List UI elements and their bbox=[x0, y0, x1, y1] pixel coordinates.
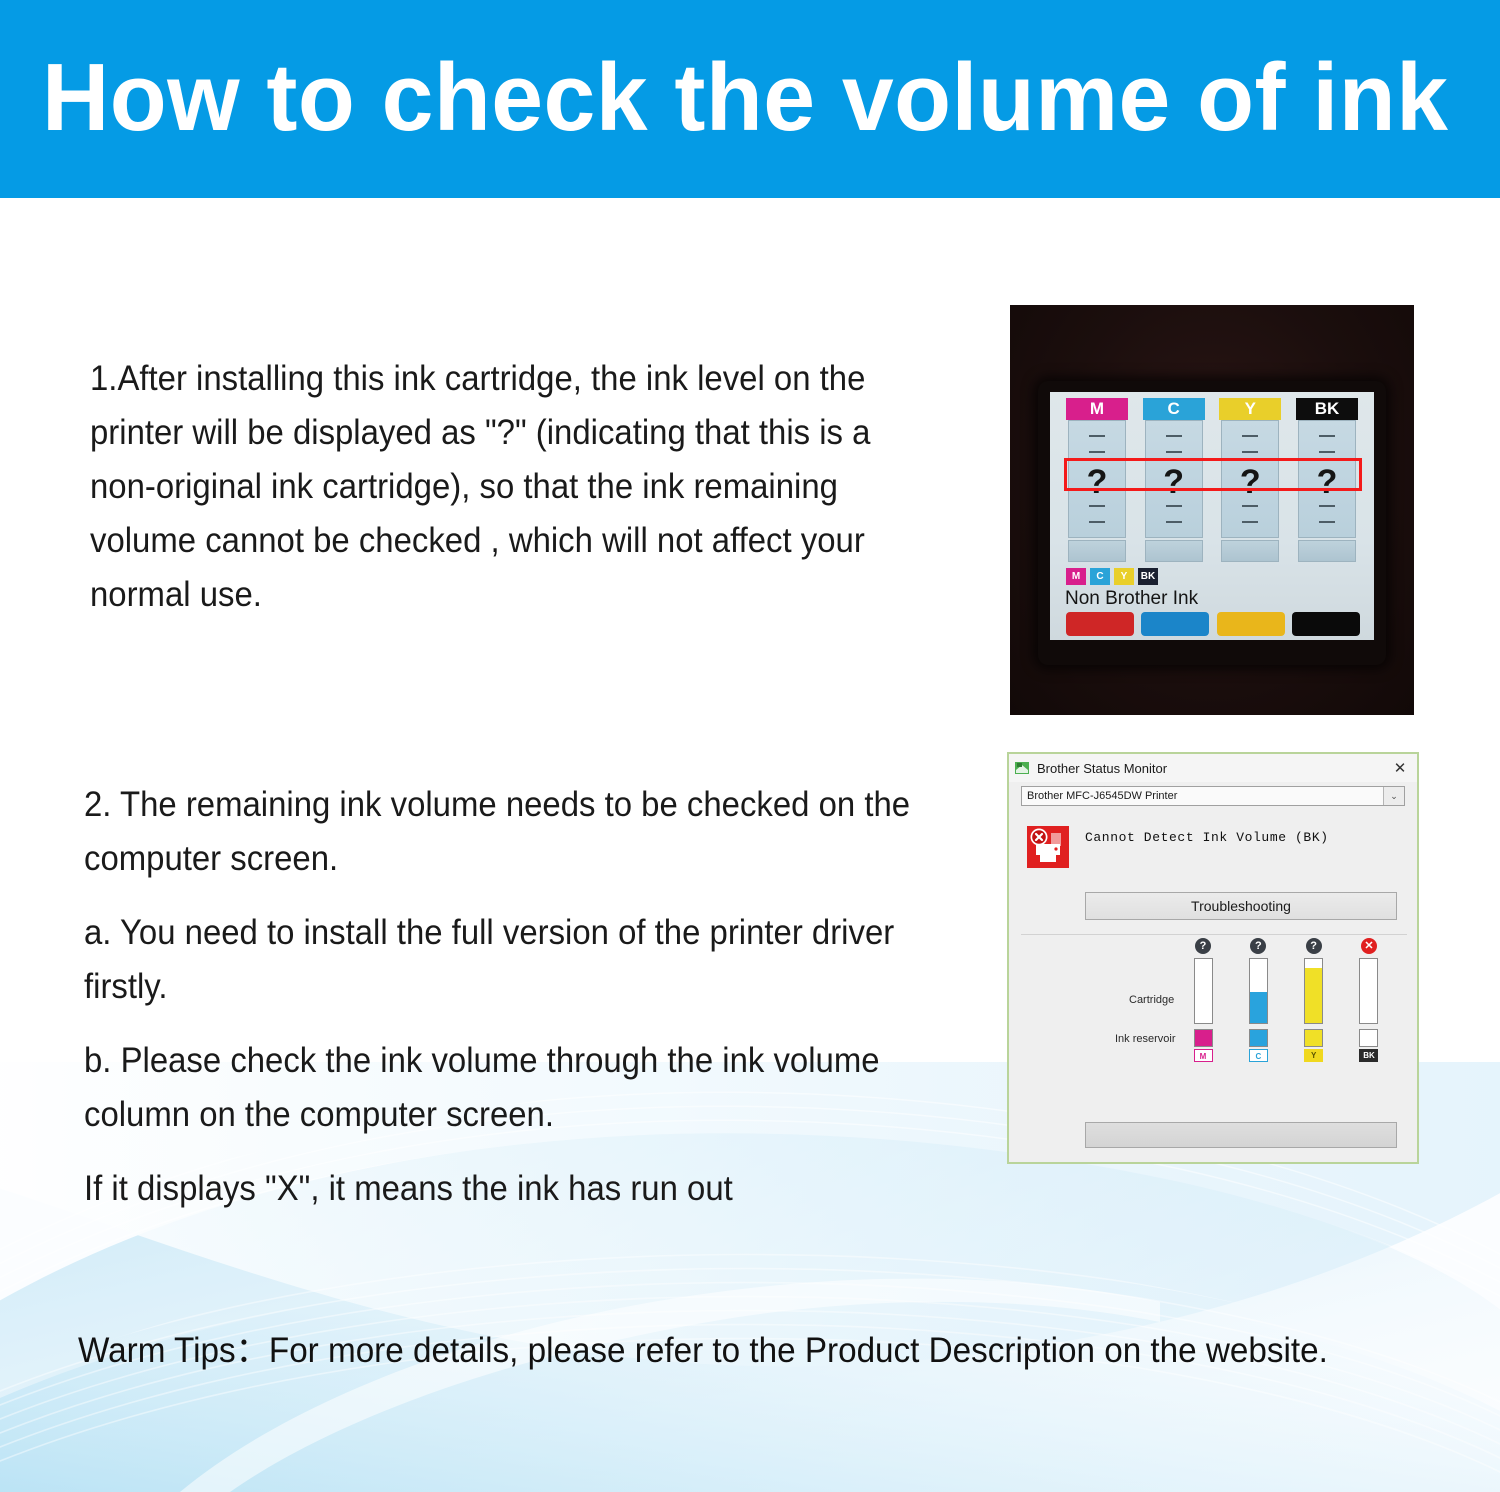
warm-tips-text: Warm Tips：For more details, please refer… bbox=[78, 1328, 1328, 1374]
cartridge-fill-c bbox=[1250, 992, 1267, 1023]
status-icon-m: ? bbox=[1195, 938, 1211, 954]
ink-column-header-m: M bbox=[1066, 398, 1128, 420]
ink-gauge-c[interactable]: ? C bbox=[1246, 938, 1270, 1083]
lcd-blue-button[interactable] bbox=[1141, 612, 1209, 636]
lcd-yellow-button[interactable] bbox=[1217, 612, 1285, 636]
gauge-tag-y: Y bbox=[1304, 1049, 1323, 1062]
cartridge-tube-y bbox=[1304, 958, 1323, 1024]
ink-column-foot-m bbox=[1068, 540, 1126, 562]
non-brother-ink-label: Non Brother Ink bbox=[1065, 588, 1198, 610]
ink-level-panel: Cartridge Ink reservoir ? M ? bbox=[1009, 934, 1417, 1086]
bottom-action-button[interactable] bbox=[1085, 1122, 1397, 1148]
window-body: Brother MFC-J6545DW Printer ⌄ Cannot Det… bbox=[1009, 782, 1417, 1162]
status-icon-y: ? bbox=[1306, 938, 1322, 954]
step-1-text: 1.After installing this ink cartridge, t… bbox=[90, 352, 936, 622]
reservoir-fill-c bbox=[1250, 1030, 1267, 1046]
gauge-tag-m: M bbox=[1194, 1049, 1213, 1062]
header-banner: How to check the volume of ink bbox=[0, 0, 1500, 198]
error-message-text: Cannot Detect Ink Volume (BK) bbox=[1085, 830, 1329, 845]
cartridge-fill-y bbox=[1305, 968, 1322, 1023]
window-title-text: Brother Status Monitor bbox=[1037, 761, 1389, 776]
printer-error-icon bbox=[1025, 824, 1071, 870]
lcd-button-row bbox=[1066, 612, 1360, 636]
cartridge-tube-bk bbox=[1359, 958, 1378, 1024]
troubleshooting-button[interactable]: Troubleshooting bbox=[1085, 892, 1397, 920]
ink-gauge-m[interactable]: ? M bbox=[1191, 938, 1215, 1083]
ink-chip-m: M bbox=[1066, 568, 1086, 585]
ink-reservoir-label: Ink reservoir bbox=[1115, 1033, 1176, 1045]
ink-gauge-bk[interactable]: ✕ BK bbox=[1357, 938, 1381, 1083]
lcd-screen: M ? C bbox=[1050, 392, 1374, 640]
lcd-bezel: M ? C bbox=[1038, 381, 1386, 665]
step-2-intro-text: 2. The remaining ink volume needs to be … bbox=[84, 778, 958, 886]
reservoir-box-c bbox=[1249, 1029, 1268, 1047]
step-2c-text: If it displays "X", it means the ink has… bbox=[84, 1162, 958, 1216]
cartridge-tube-c bbox=[1249, 958, 1268, 1024]
ink-chip-y: Y bbox=[1114, 568, 1134, 585]
red-highlight-box bbox=[1064, 458, 1362, 491]
status-icon-bk: ✕ bbox=[1361, 938, 1377, 954]
ink-column-header-bk: BK bbox=[1296, 398, 1358, 420]
ink-column-header-y: Y bbox=[1219, 398, 1281, 420]
chevron-down-icon[interactable]: ⌄ bbox=[1383, 787, 1404, 805]
printer-select[interactable]: Brother MFC-J6545DW Printer ⌄ bbox=[1021, 786, 1405, 806]
step-2a-text: a. You need to install the full version … bbox=[84, 906, 958, 1014]
ink-chip-c: C bbox=[1090, 568, 1110, 585]
lcd-black-button[interactable] bbox=[1292, 612, 1360, 636]
ink-gauge-y[interactable]: ? Y bbox=[1302, 938, 1326, 1083]
reservoir-box-m bbox=[1194, 1029, 1213, 1047]
close-icon[interactable]: ✕ bbox=[1389, 758, 1411, 778]
ink-column-foot-y bbox=[1221, 540, 1279, 562]
brother-app-icon bbox=[1015, 761, 1030, 775]
infographic-page: How to check the volume of ink 1.After i… bbox=[0, 0, 1500, 1492]
window-title-bar: Brother Status Monitor ✕ bbox=[1009, 754, 1417, 782]
ink-chip-bk: BK bbox=[1138, 568, 1158, 585]
ink-chips: M C Y BK bbox=[1066, 568, 1158, 585]
gauge-tag-bk: BK bbox=[1359, 1049, 1378, 1062]
ink-column-foot-bk bbox=[1298, 540, 1356, 562]
lcd-red-button[interactable] bbox=[1066, 612, 1134, 636]
ink-gauges: ? M ? bbox=[1191, 938, 1381, 1083]
page-title: How to check the volume of ink bbox=[42, 42, 1448, 154]
ink-column-header-c: C bbox=[1143, 398, 1205, 420]
ink-column-foot-c bbox=[1145, 540, 1203, 562]
cartridge-label: Cartridge bbox=[1129, 994, 1174, 1006]
reservoir-fill-y bbox=[1305, 1030, 1322, 1046]
cartridge-tube-m bbox=[1194, 958, 1213, 1024]
reservoir-fill-bk bbox=[1360, 1030, 1377, 1046]
gauge-tag-c: C bbox=[1249, 1049, 1268, 1062]
printer-lcd-photo: M ? C bbox=[1010, 305, 1414, 715]
printer-select-value: Brother MFC-J6545DW Printer bbox=[1022, 790, 1383, 802]
reservoir-box-y bbox=[1304, 1029, 1323, 1047]
step-2b-text: b. Please check the ink volume through t… bbox=[84, 1034, 958, 1142]
step-2-block: 2. The remaining ink volume needs to be … bbox=[84, 778, 958, 1216]
reservoir-fill-m bbox=[1195, 1030, 1212, 1046]
status-icon-c: ? bbox=[1250, 938, 1266, 954]
brother-status-monitor-window: Brother Status Monitor ✕ Brother MFC-J65… bbox=[1007, 752, 1419, 1164]
reservoir-box-bk bbox=[1359, 1029, 1378, 1047]
